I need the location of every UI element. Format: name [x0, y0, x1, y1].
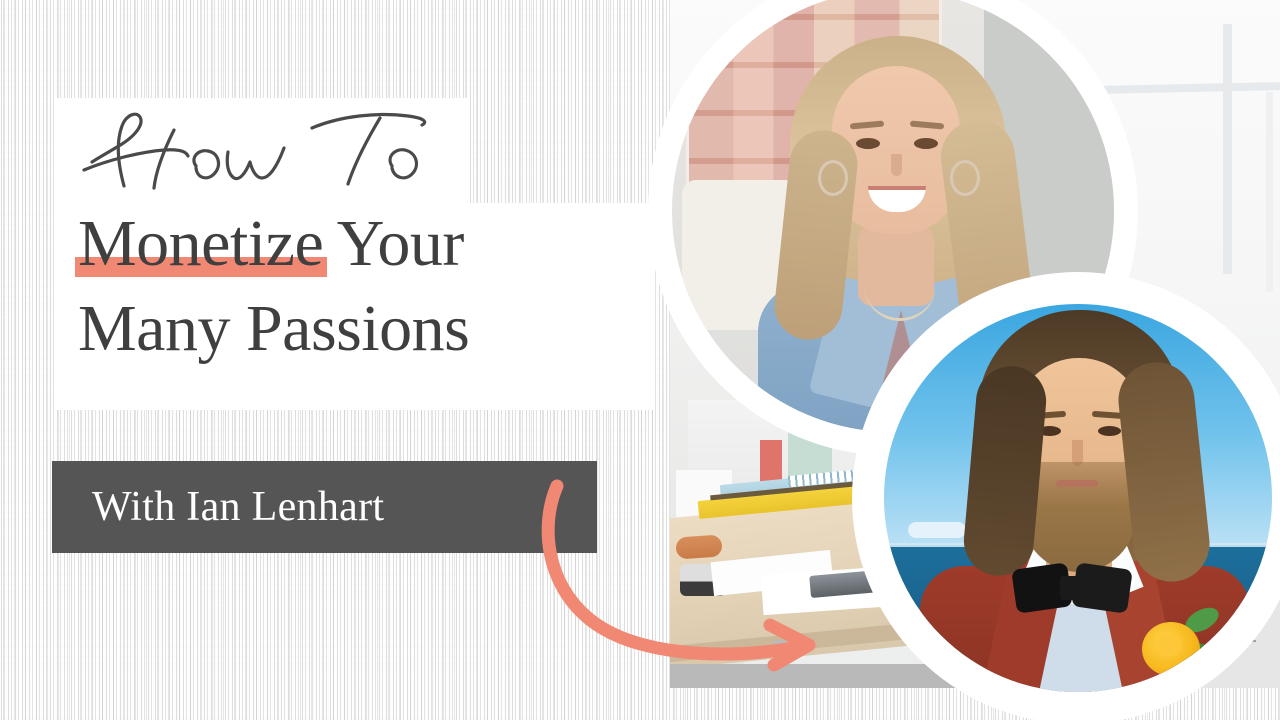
headline-line-1: Monetize Your	[78, 212, 648, 275]
script-eyebrow-how-to	[78, 108, 458, 194]
highlighted-word: Monetize	[78, 212, 323, 275]
speaker-name-bar: With Ian Lenhart	[52, 461, 597, 553]
speaker-name-label: With Ian Lenhart	[52, 483, 384, 531]
guest-bow-tie-knot	[1060, 576, 1082, 600]
guest-eye-right	[1098, 426, 1121, 436]
desk-wooden-object	[675, 534, 722, 559]
thumbnail-canvas: Monetize Your Many Passions With Ian Len…	[0, 0, 1280, 720]
how-to-script-icon	[78, 108, 458, 194]
headline-line-1-rest: Your	[323, 207, 464, 280]
window-frame-vertical-icon	[1223, 24, 1232, 274]
headline-line-2: Many Passions	[78, 297, 648, 360]
page-title: Monetize Your Many Passions	[78, 212, 648, 361]
host-hoop-earring-left	[818, 160, 848, 196]
guest-pocket-square	[1175, 670, 1211, 692]
portrait-guest	[884, 304, 1272, 692]
headline-highlight-text: Monetize	[78, 207, 323, 280]
guest-boutonniere-petal	[1156, 634, 1182, 656]
host-eye-left	[856, 138, 880, 149]
guest-mouth	[1056, 480, 1098, 487]
host-nose	[891, 154, 902, 176]
guest-cloud	[908, 522, 966, 538]
host-eye-right	[914, 138, 938, 149]
host-hoop-earring-right	[950, 160, 980, 196]
desk-leg-left	[774, 640, 786, 688]
window-frame-vertical-secondary-icon	[1266, 92, 1273, 292]
